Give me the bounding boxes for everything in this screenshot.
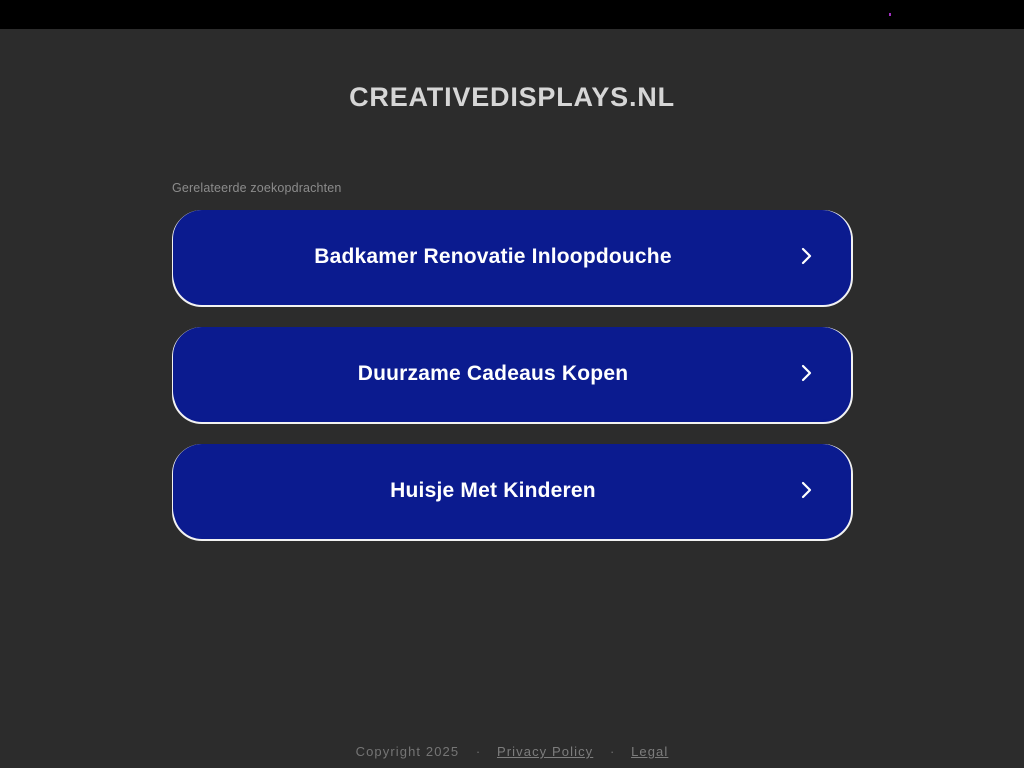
search-term-button-3[interactable]: Huisje Met Kinderen (172, 444, 853, 541)
parked-domain-page: CREATIVEDISPLAYS.NL Gerelateerde zoekopd… (0, 29, 1024, 768)
browser-indicator-dot (889, 13, 891, 16)
privacy-policy-link[interactable]: Privacy Policy (497, 744, 593, 759)
browser-top-bar (0, 0, 1024, 29)
page-title: CREATIVEDISPLAYS.NL (0, 82, 1024, 113)
legal-link[interactable]: Legal (631, 744, 668, 759)
search-term-label-3: Huisje Met Kinderen (173, 444, 813, 537)
footer-separator-2: · (610, 744, 614, 759)
search-term-button-1[interactable]: Badkamer Renovatie Inloopdouche (172, 210, 853, 307)
chevron-right-icon (794, 244, 818, 268)
footer-separator-1: · (476, 744, 480, 759)
search-term-button-1-surface: Badkamer Renovatie Inloopdouche (173, 210, 851, 303)
search-term-label-1: Badkamer Renovatie Inloopdouche (173, 210, 813, 303)
search-term-button-3-surface: Huisje Met Kinderen (173, 444, 851, 537)
chevron-right-icon (794, 361, 818, 385)
search-term-button-2-surface: Duurzame Cadeaus Kopen (173, 327, 851, 420)
search-term-button-2[interactable]: Duurzame Cadeaus Kopen (172, 327, 853, 424)
footer: Copyright 2025 · Privacy Policy · Legal (0, 744, 1024, 759)
related-searches-label: Gerelateerde zoekopdrachten (172, 181, 341, 195)
related-searches-list: Badkamer Renovatie Inloopdouche Duurzame… (172, 210, 853, 561)
footer-copyright: Copyright 2025 (356, 744, 460, 759)
search-term-label-2: Duurzame Cadeaus Kopen (173, 327, 813, 420)
chevron-right-icon (794, 478, 818, 502)
